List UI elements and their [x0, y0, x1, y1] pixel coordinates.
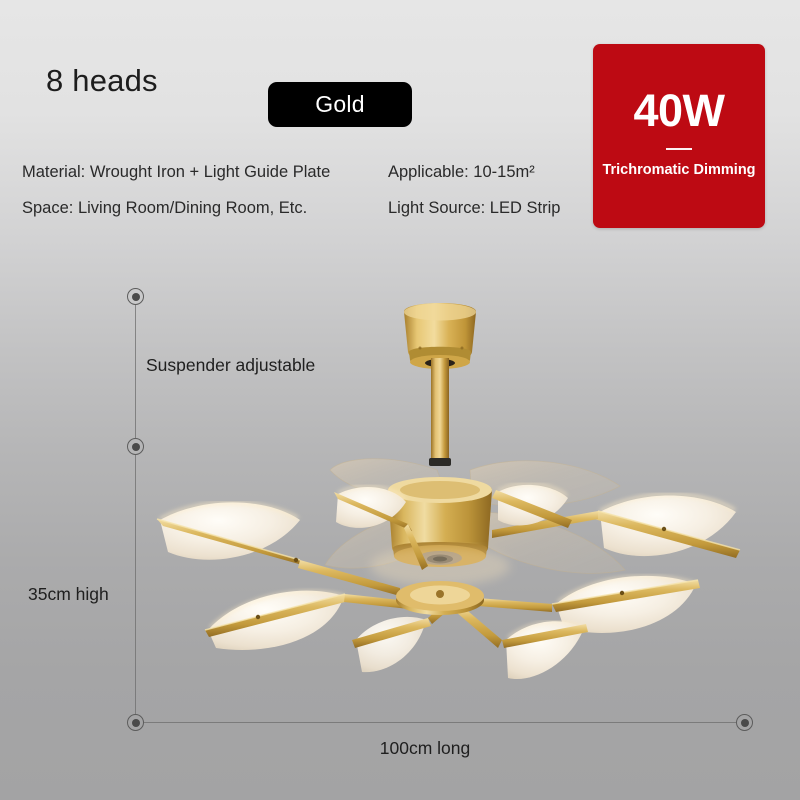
leaf-panel-right-lower	[478, 576, 700, 633]
acrylic-fan-blades	[325, 459, 625, 574]
leaf-panel-bottom-left	[352, 596, 458, 672]
ceiling-canopy	[404, 303, 476, 369]
leaf-panel-left-lower	[205, 591, 418, 650]
power-badge: 40W Trichromatic Dimming	[593, 44, 765, 228]
downrod	[431, 358, 449, 466]
power-wattage-label: 40W	[633, 88, 724, 133]
dimension-line-vertical-upper	[135, 304, 136, 438]
dimension-line-horizontal	[143, 722, 736, 723]
power-feature-label: Trichromatic Dimming	[602, 162, 755, 178]
heads-count-title: 8 heads	[46, 63, 158, 99]
spec-space: Space: Living Room/Dining Room, Etc.	[22, 199, 307, 218]
dimension-marker-middle	[127, 438, 144, 455]
length-dimension-text: 100cm long	[380, 738, 470, 758]
fan-arms-and-panels	[157, 484, 740, 679]
leaf-panel-midleft	[334, 486, 428, 570]
height-dimension-label: 35cm high	[28, 584, 109, 605]
downrod-joint	[429, 458, 451, 466]
power-badge-divider	[666, 148, 692, 150]
arm-hub-plate	[396, 581, 484, 615]
leaf-panel-right-upper	[492, 494, 740, 558]
length-dimension-label: 100cm long	[0, 738, 800, 759]
leaf-panel-midright	[492, 484, 572, 528]
spec-material: Material: Wrought Iron + Light Guide Pla…	[22, 163, 330, 182]
color-badge-gold: Gold	[268, 82, 412, 127]
dimension-marker-bottom-left	[127, 714, 144, 731]
dimension-marker-bottom-right	[736, 714, 753, 731]
leaf-panel-left-upper	[157, 502, 400, 596]
spec-light-source: Light Source: LED Strip	[388, 199, 560, 218]
spec-applicable: Applicable: 10-15m²	[388, 163, 535, 182]
suspender-dimension-label: Suspender adjustable	[146, 355, 315, 376]
color-badge-label: Gold	[315, 91, 364, 118]
dimension-marker-top	[127, 288, 144, 305]
motor-housing	[388, 477, 492, 567]
leaf-panel-bottom-center	[456, 606, 588, 679]
hub-glow	[370, 546, 510, 586]
dimension-line-vertical-lower	[135, 454, 136, 714]
